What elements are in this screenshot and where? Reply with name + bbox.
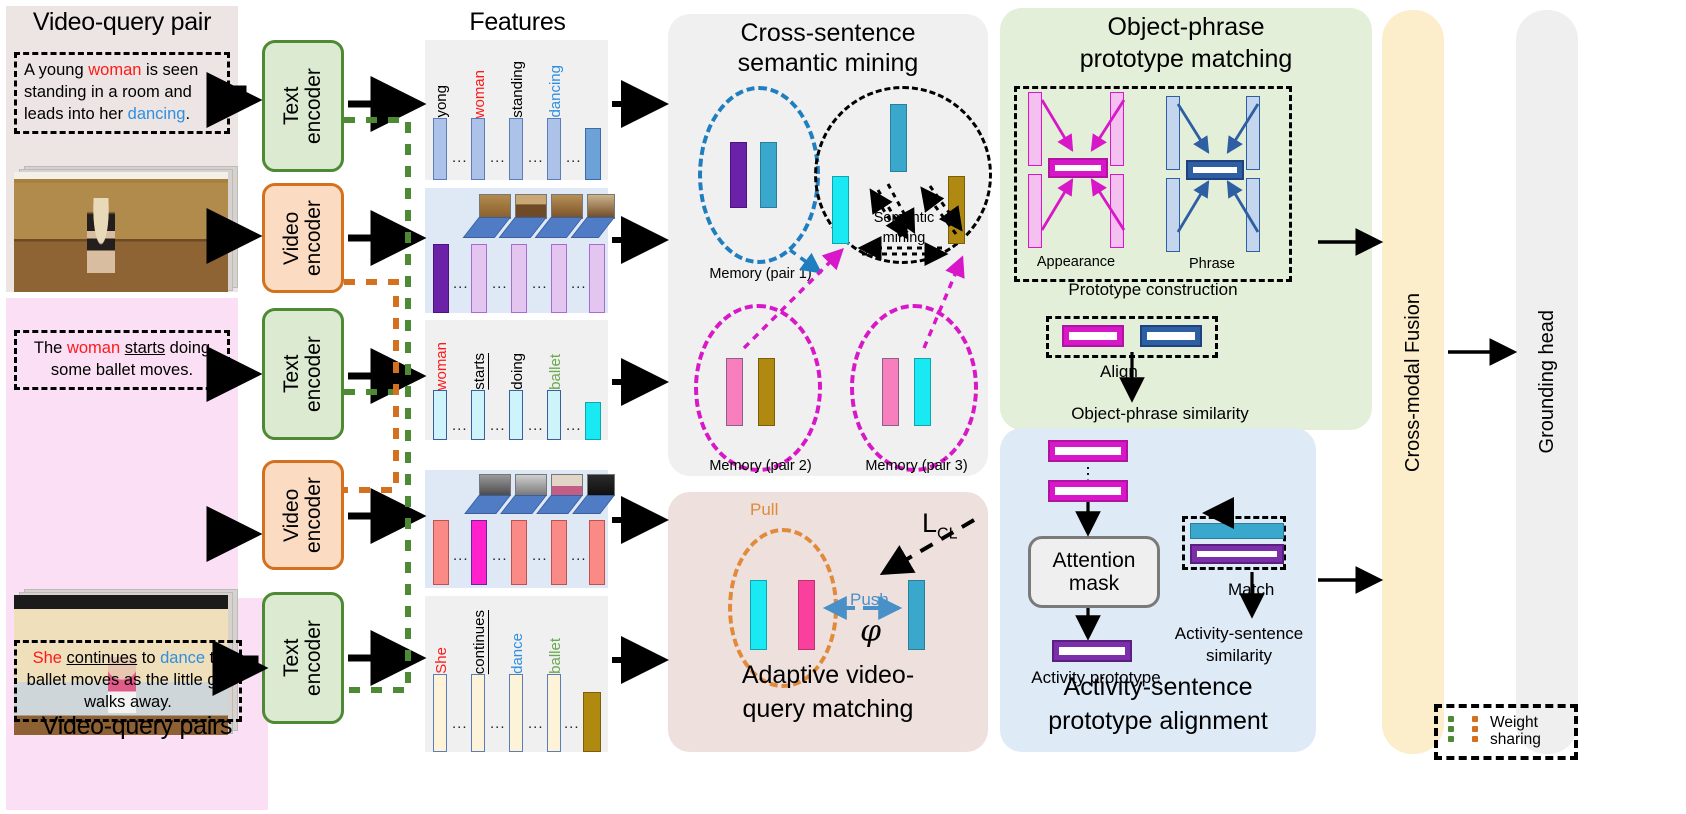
weight-sharing-label: Weight sharing [1490,714,1541,749]
green-dots-icon [1448,716,1454,742]
activity-sentence-similarity-line1: Activity-sentence [1164,624,1314,644]
feature-word: ballet [547,638,564,674]
feature-ellipsis: ... [528,150,544,165]
video-encoder-1[interactable]: Video encoder [262,183,344,293]
feature-ellipsis: ... [453,276,469,291]
feature-block-text-2: woman starts doing ballet ... ... ... ..… [425,320,608,440]
query3-continues: continues [67,649,138,667]
feature-ellipsis: ... [452,418,468,433]
feature-word: yong [433,85,450,118]
pull-label: Pull [750,500,778,520]
query1-seg-c: . [185,105,190,123]
text-encoder-1[interactable]: Text encoder [262,40,344,172]
aspa-title-line2: prototype alignment [1000,708,1316,735]
query-text-3: She continues to dance to ballet moves a… [14,640,242,722]
phrase-label: Phrase [1156,256,1268,272]
text-encoder-3[interactable]: Text encoder [262,592,344,724]
feature-ellipsis: ... [571,276,587,291]
feature-ellipsis: ... [532,548,548,563]
opm-title-line1: Object-phrase [1000,14,1372,41]
feature-ellipsis: ... [532,276,548,291]
feature-block-text-1: yong woman standing dancing ... ... ... … [425,40,608,180]
attention-mask-line1: Attention [1053,549,1136,572]
phi-symbol: φ [860,614,881,649]
align-label: Align [1100,362,1160,382]
query-text-2: The woman starts doing some ballet moves… [14,330,230,390]
memory-pair-1-ellipse [698,86,820,264]
feature-ellipsis: ... [453,548,469,563]
text-encoder-label: Text encoder [281,336,325,412]
csm-title-line1: Cross-sentence [668,20,988,47]
features-title: Features [425,8,610,37]
attention-mask-line2: mask [1069,572,1119,595]
query1-dancing: dancing [128,105,186,123]
feature-word: She [433,647,450,674]
feature-ellipsis: ... [492,276,508,291]
cross-modal-fusion-box[interactable]: Cross-modal Fusion [1382,10,1444,754]
feature-block-video-2: ... ... ... ... [425,470,608,588]
contrastive-loss-label: LCL [922,508,957,543]
feature-ellipsis: ... [566,418,582,433]
feature-ellipsis: ... [490,150,506,165]
push-label: Push [850,590,889,610]
semantic-mining-label-2: mining [854,230,954,246]
feature-word: woman [433,342,450,390]
attention-mask-box[interactable]: Attention mask [1028,536,1160,608]
feature-word: ballet [547,354,564,390]
feature-word: starts [471,353,488,390]
video-encoder-label: Video encoder [281,200,325,276]
page-title-pairs: Video-query pairs [6,712,268,741]
feature-ellipsis: ... [566,150,582,165]
semantic-mining-label-1: Semantic [854,210,954,226]
query-text-1: A young woman is seen standing in a room… [14,52,230,134]
feature-ellipsis: ... [490,716,506,731]
cross-modal-fusion-label: Cross-modal Fusion [1402,293,1425,472]
query2-seg-a: The [34,339,67,357]
memory-pair-1-label: Memory (pair 1) [678,266,843,282]
video-thumbnail-stack-1 [14,166,238,292]
video-encoder-2[interactable]: Video encoder [262,460,344,570]
feature-ellipsis: ... [490,418,506,433]
match-label: Match [1228,580,1288,600]
query1-woman: woman [88,61,141,79]
feature-word: doing [509,353,526,390]
memory-pair-3-label: Memory (pair 3) [834,458,999,474]
text-encoder-2[interactable]: Text encoder [262,308,344,440]
grounding-head-label: Grounding head [1536,310,1559,453]
opm-title-line2: prototype matching [1000,46,1372,73]
memory-pair-2-label: Memory (pair 2) [678,458,843,474]
adaptive-video-query-matching-panel: Pull Push φ LCL Adaptive video- query ma… [668,492,988,752]
feature-word: woman [471,70,488,118]
query1-seg-a: A young [24,61,88,79]
activity-sentence-similarity-line2: similarity [1164,646,1314,666]
object-phrase-similarity-label: Object-phrase similarity [1010,404,1310,424]
appearance-label: Appearance [1020,254,1132,270]
feature-ellipsis: ... [571,548,587,563]
feature-word: dancing [547,65,564,118]
query3-she: She [33,649,62,667]
avqm-title-line2: query matching [668,696,988,723]
feature-block-text-3: She continues dance ballet ... ... ... .… [425,596,608,752]
page-title-pair: Video-query pair [6,8,238,37]
avqm-title-line1: Adaptive video- [668,662,988,689]
feature-ellipsis: ... [528,418,544,433]
aspa-title-line1: Activity-sentence [1000,674,1316,701]
feature-ellipsis: ... [452,716,468,731]
feature-ellipsis: ... [492,548,508,563]
feature-ellipsis: ... [564,716,580,731]
query3-seg-a: to [137,649,160,667]
query2-starts: starts [125,339,165,357]
video-encoder-label: Video encoder [281,477,325,553]
text-encoder-label: Text encoder [281,620,325,696]
feature-word: continues [471,610,488,674]
query3-dance: dance [160,649,205,667]
query2-woman: woman [67,339,120,357]
feature-block-video-1: ... ... ... ... [425,188,608,313]
object-phrase-prototype-matching-panel: Object-phrase prototype matching Appeara… [1000,8,1372,430]
activity-sentence-prototype-alignment-panel: ⋮ Attention mask Activity prototype Matc… [1000,428,1316,752]
csm-title-line2: semantic mining [668,50,988,77]
feature-word: dance [509,633,526,674]
text-encoder-label: Text encoder [281,68,325,144]
prototype-construction-label: Prototype construction [1016,280,1290,300]
feature-ellipsis: ... [452,150,468,165]
cross-sentence-semantic-mining-panel: Cross-sentence semantic mining Memory (p… [668,14,988,476]
grounding-head-box[interactable]: Grounding head [1516,10,1578,754]
feature-ellipsis: ... [528,716,544,731]
orange-dots-icon [1472,716,1478,742]
feature-word: standing [509,61,526,118]
